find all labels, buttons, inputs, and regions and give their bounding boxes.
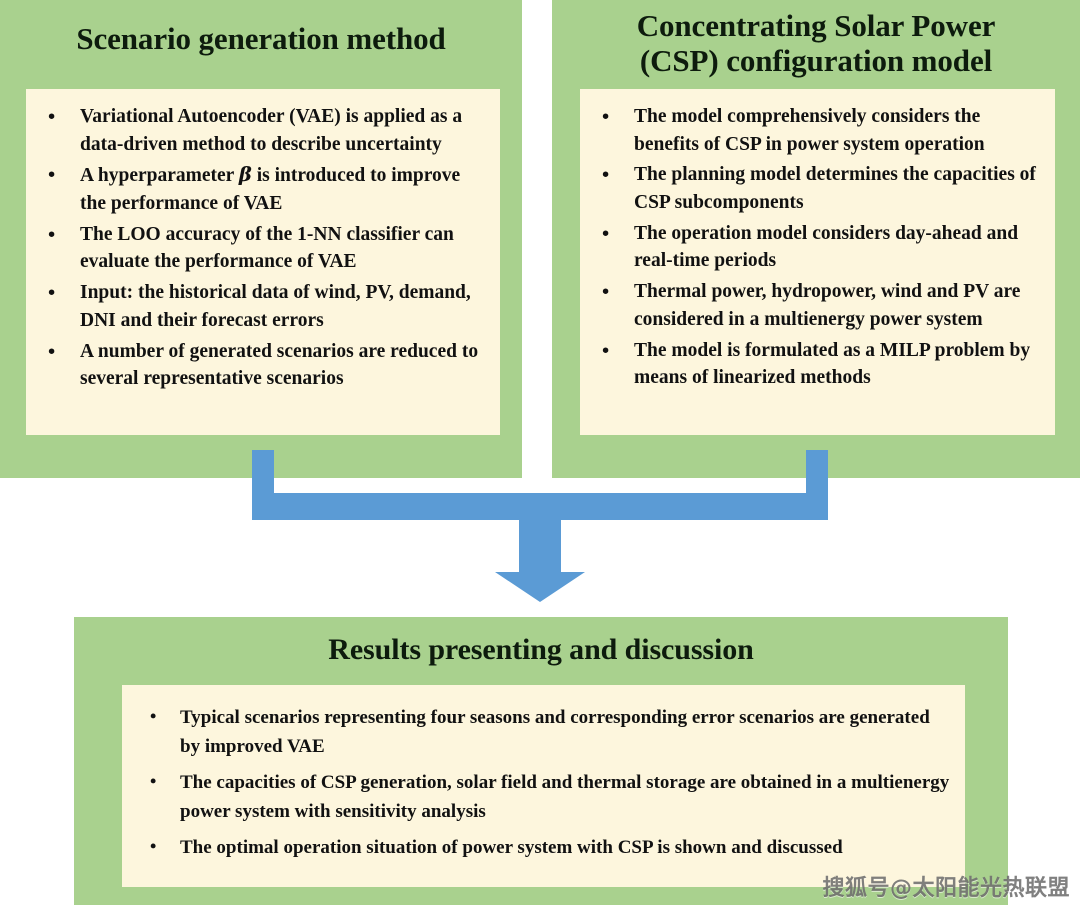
list-item: Variational Autoencoder (VAE) is applied… (36, 103, 490, 158)
list-item: The operation model considers day-ahead … (590, 220, 1045, 275)
flowchart-root: Scenario generation method Variational A… (0, 0, 1080, 910)
list-item: Input: the historical data of wind, PV, … (36, 279, 490, 334)
card-results-bullets: Typical scenarios representing four seas… (122, 685, 965, 887)
card-csp-bullets: The model comprehensively considers the … (580, 89, 1055, 435)
panel-csp-title-line-1: Concentrating Solar Power (552, 9, 1080, 44)
list-item: The model is formulated as a MILP proble… (590, 337, 1045, 392)
results-bullet-list: Typical scenarios representing four seas… (136, 703, 951, 862)
merge-down-arrow-icon (246, 450, 834, 610)
list-item: The capacities of CSP generation, solar … (136, 768, 951, 827)
csp-bullet-list: The model comprehensively considers the … (590, 103, 1045, 392)
panel-results-presenting-and-discussion: Results presenting and discussion Typica… (74, 617, 1008, 905)
beta-symbol: β (239, 163, 252, 186)
list-item: A number of generated scenarios are redu… (36, 338, 490, 393)
list-item: Typical scenarios representing four seas… (136, 703, 951, 762)
list-item: The model comprehensively considers the … (590, 103, 1045, 158)
panel-scenario-title: Scenario generation method (0, 22, 522, 57)
list-item: The LOO accuracy of the 1-NN classifier … (36, 221, 490, 276)
merge-down-arrow (246, 450, 834, 610)
list-item: The optimal operation situation of power… (136, 833, 951, 862)
panel-csp-configuration-model: Concentrating Solar Power (CSP) configur… (552, 0, 1080, 478)
panel-csp-title: Concentrating Solar Power (CSP) configur… (552, 9, 1080, 78)
scenario-bullet-list: Variational Autoencoder (VAE) is applied… (36, 103, 490, 393)
panel-results-title: Results presenting and discussion (74, 633, 1008, 667)
panel-scenario-generation-method: Scenario generation method Variational A… (0, 0, 522, 478)
panel-scenario-title-line-1: Scenario generation method (0, 22, 522, 57)
list-item: A hyperparameter β is introduced to impr… (36, 161, 490, 217)
watermark: 搜狐号@太阳能光热联盟 (822, 870, 1070, 902)
list-item: The planning model determines the capaci… (590, 161, 1045, 216)
list-item: Thermal power, hydropower, wind and PV a… (590, 278, 1045, 333)
panel-results-title-line-1: Results presenting and discussion (74, 633, 1008, 667)
card-scenario-bullets: Variational Autoencoder (VAE) is applied… (26, 89, 500, 435)
panel-csp-title-line-2: (CSP) configuration model (552, 44, 1080, 79)
